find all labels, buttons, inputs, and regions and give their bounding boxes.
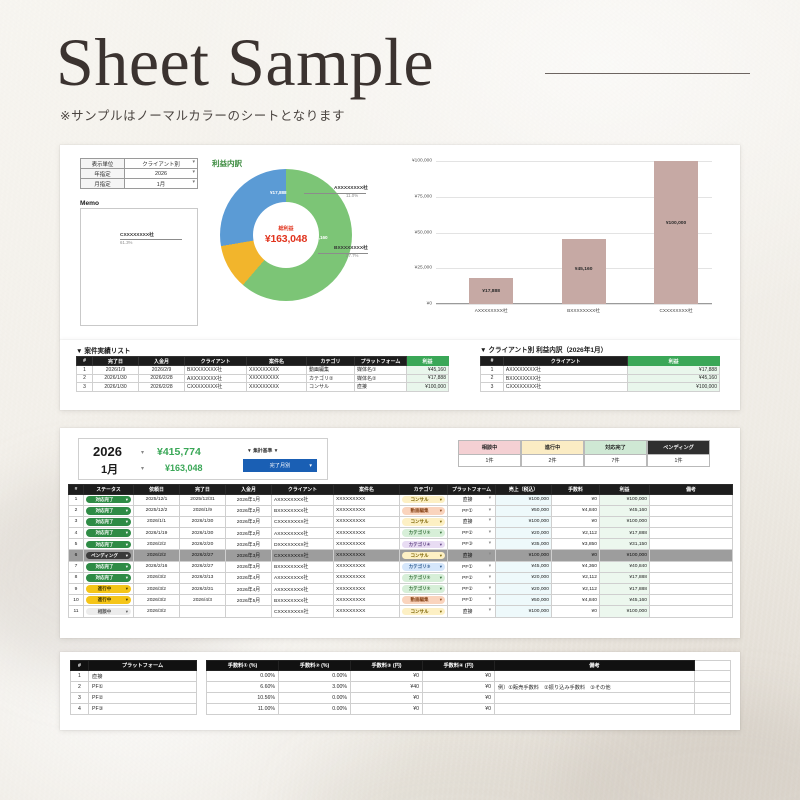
donut-label-c: CXXXXXXXX社 (120, 231, 154, 238)
aggregation-basis-label: ▼ 集計基準 ▼ (247, 447, 278, 454)
sales-amount: ¥45,000 (496, 561, 552, 572)
bar-category-0: AXXXXXXXX社 (455, 308, 527, 314)
client-col-1: クライアント (503, 357, 627, 366)
kpi-year-total: ¥415,774 (157, 446, 201, 458)
jisseki-cell-1: 2026/1/30 (93, 383, 139, 392)
request-date: 2026/1/1 (134, 516, 180, 527)
filter-controls: 表示単位クライアント別年指定2026月指定1月 (80, 158, 198, 189)
payment-month: 2026年2月 (226, 528, 272, 539)
jisseki-col-7: 利益 (407, 357, 449, 366)
status-badge[interactable]: 対応完了 (86, 574, 131, 582)
bar-value-0: ¥17,888 (469, 289, 513, 294)
fee-note: 例）①販売手数料 ②振り込み手数料 ③その他 (495, 682, 695, 693)
table-row[interactable]: 32026/1/302026/2/28CXXXXXXXX社XXXXXXXXXコン… (77, 383, 449, 392)
table-row[interactable]: 2BXXXXXXXX社¥45,160 (481, 374, 720, 383)
jisseki-cell-4: XXXXXXXXX (247, 383, 307, 392)
status-badge[interactable]: 進行中 (86, 585, 131, 593)
fee-platform: 直接 (89, 671, 197, 682)
jisseki-cell-6: 媒体名② (355, 374, 407, 383)
category-badge[interactable]: カテゴリ② (402, 529, 445, 537)
jisseki-cell-6: 直接 (355, 383, 407, 392)
fee-amount-4: ¥0 (423, 671, 495, 682)
bar-ytick-4: ¥100,000 (412, 159, 432, 164)
payment-month: 2026年2月 (226, 505, 272, 516)
row-index: 9 (69, 584, 84, 595)
client-name: CXXXXXXXX社 (272, 516, 334, 527)
table-row[interactable]: 3PF②10.56%0.00%¥0¥0 (71, 693, 731, 704)
jisseki-col-0: # (77, 357, 93, 366)
project-name: XXXXXXXXX (334, 572, 400, 583)
fee-rate-1: 0.00% (207, 671, 279, 682)
payment-month (226, 606, 272, 617)
profit-amount: ¥100,000 (600, 516, 650, 527)
filter-label-1: 年指定 (81, 169, 125, 179)
fee-amount: ¥0 (552, 550, 600, 561)
sales-amount: ¥100,000 (496, 606, 552, 617)
project-name: XXXXXXXXX (334, 494, 400, 505)
fee-row-index: 3 (71, 693, 89, 704)
payment-month: 2026年4月 (226, 572, 272, 583)
kpi-month[interactable]: 1月 (101, 461, 118, 477)
status-card-2[interactable]: 対応完了7件 (584, 440, 647, 467)
complete-date: 2026/2/27 (180, 561, 226, 572)
table-row[interactable]: 6ペンディング2026/2/22026/2/272026年3月CXXXXXXXX… (69, 550, 733, 561)
table-row[interactable]: 1AXXXXXXXX社¥17,888 (481, 366, 720, 375)
main-col-1: ステータス (84, 485, 134, 495)
request-date: 2026/1/19 (134, 528, 180, 539)
kpi-year[interactable]: 2026 (93, 444, 122, 459)
jisseki-col-1: 完了日 (93, 357, 139, 366)
filter-select-2[interactable]: 1月 (125, 179, 198, 189)
table-row[interactable]: 9進行中2026/3/22026/3/312026年4月AXXXXXXXX社XX… (69, 584, 733, 595)
client-name: AXXXXXXXX社 (272, 528, 334, 539)
jisseki-section-label: ▼ 案件実績リスト (76, 345, 131, 355)
row-index: 7 (69, 561, 84, 572)
client-name: AXXXXXXXX社 (272, 494, 334, 505)
complete-date: 2026/3/13 (180, 572, 226, 583)
payment-month: 2026年1月 (226, 494, 272, 505)
status-badge[interactable]: 対応完了 (86, 541, 131, 549)
client-name: AXXXXXXXX社 (272, 584, 334, 595)
table-row[interactable]: 12026/1/92026/2/9BXXXXXXXX社XXXXXXXXX動画編集… (77, 366, 449, 375)
profit-amount: ¥100,000 (600, 494, 650, 505)
fee-amount: ¥4,360 (552, 561, 600, 572)
aggregation-basis-select[interactable]: 完了月別 (243, 459, 317, 472)
project-name: XXXXXXXXX (334, 561, 400, 572)
table-row[interactable]: 11相談中2026/3/2CXXXXXXXX社XXXXXXXXXコンサル直接¥1… (69, 606, 733, 617)
payment-month: 2026年3月 (226, 550, 272, 561)
table-row[interactable]: 8対応完了2026/3/22026/3/132026年4月AXXXXXXXX社X… (69, 572, 733, 583)
bar-0[interactable]: ¥17,888AXXXXXXXX社 (469, 278, 513, 304)
status-badge[interactable]: 進行中 (86, 596, 131, 604)
row-index: 11 (69, 606, 84, 617)
note-cell (650, 539, 733, 550)
request-date: 2025/12/1 (134, 494, 180, 505)
profit-amount: ¥17,888 (600, 584, 650, 595)
jisseki-cell-3: CXXXXXXXX社 (185, 383, 247, 392)
status-badge[interactable]: 対応完了 (86, 518, 131, 526)
category-cell: カテゴリ③ (400, 561, 448, 572)
main-col-7: カテゴリ (400, 485, 448, 495)
jisseki-cell-7: ¥17,888 (407, 374, 449, 383)
row-index: 2 (69, 505, 84, 516)
client-name: BXXXXXXXX社 (272, 595, 334, 606)
aggregation-basis-value: 完了月別 (270, 462, 291, 469)
platform-select[interactable]: 直接 (450, 496, 493, 503)
bar-category-2: CXXXXXXXX社 (640, 308, 712, 314)
table-row[interactable]: 4対応完了2026/1/192026/1/302026年2月AXXXXXXXX社… (69, 528, 733, 539)
platform-cell: PF① (448, 505, 496, 516)
category-cell: コンサル (400, 550, 448, 561)
request-date: 2026/2/2 (134, 539, 180, 550)
jisseki-cell-0: 2 (77, 374, 93, 383)
main-col-2: 依頼日 (134, 485, 180, 495)
fee-rate-2: 0.00% (279, 704, 351, 715)
status-cell: 相談中 (84, 606, 134, 617)
filter-select-0[interactable]: クライアント別 (125, 159, 198, 169)
platform-select[interactable]: PF① (450, 564, 493, 570)
fee-spacer (695, 682, 731, 693)
main-col-4: 入金月 (226, 485, 272, 495)
status-badge[interactable]: 対応完了 (86, 563, 131, 571)
status-cell: 対応完了 (84, 516, 134, 527)
bar-ytick-0: ¥0 (427, 302, 432, 307)
filter-select-1[interactable]: 2026 (125, 169, 198, 179)
fee-amount: ¥4,840 (552, 595, 600, 606)
kpi-summary: 2026 ▾ 1月 ▾ ¥415,774 ¥163,048 ▼ 集計基準 ▼ 完… (78, 438, 328, 480)
jisseki-cell-4: XXXXXXXXX (247, 374, 307, 383)
table-row[interactable]: 7対応完了2026/2/162026/2/272026年3月BXXXXXXXX社… (69, 561, 733, 572)
category-cell: コンサル (400, 516, 448, 527)
status-badge[interactable]: ペンディング (86, 552, 131, 560)
client-cell-1: CXXXXXXXX社 (503, 383, 627, 392)
fee-amount: ¥0 (552, 606, 600, 617)
platform-select[interactable]: PF② (450, 586, 493, 592)
kpi-month-total: ¥163,048 (165, 463, 203, 473)
filter-value-0: クライアント別 (142, 160, 180, 168)
filter-row-2: 月指定1月 (81, 179, 198, 189)
fee-platform: PF② (89, 693, 197, 704)
client-name: CXXXXXXXX社 (272, 550, 334, 561)
sales-amount: ¥100,000 (496, 494, 552, 505)
fee-gap (197, 704, 207, 715)
platform-cell: PF① (448, 561, 496, 572)
year-dropdown-caret-icon[interactable]: ▾ (141, 449, 144, 456)
fee-col-4: 手数料③ (円) (351, 661, 423, 671)
fee-amount: ¥0 (552, 494, 600, 505)
title-divider (545, 73, 750, 74)
fee-col-2: 手数料① (%) (207, 661, 279, 671)
status-badge[interactable]: 対応完了 (86, 529, 131, 537)
profit-amount: ¥31,150 (600, 539, 650, 550)
filter-value-1: 2026 (155, 171, 167, 177)
jisseki-cell-5: カテゴリ② (307, 374, 355, 383)
client-name: BXXXXXXXX社 (272, 505, 334, 516)
fee-col-3: 手数料② (%) (279, 661, 351, 671)
platform-select[interactable]: 直接 (450, 518, 493, 525)
donut-leader-b (318, 253, 368, 254)
fee-spacer (695, 704, 731, 715)
status-card-count-1: 2件 (522, 454, 583, 466)
donut-pct-a: 11.0% (346, 193, 358, 198)
fee-rate-1: 10.56% (207, 693, 279, 704)
bar-1[interactable]: ¥45,160BXXXXXXXX社 (562, 239, 606, 304)
fee-amount: ¥3,850 (552, 539, 600, 550)
donut-slice-value-c: ¥100,000 (198, 230, 217, 235)
jisseki-col-5: カテゴリ (307, 357, 355, 366)
donut-pct-c: 61.3% (120, 240, 132, 245)
fee-amount-3: ¥0 (351, 704, 423, 715)
client-col-0: # (481, 357, 504, 366)
client-cell-0: 3 (481, 383, 504, 392)
main-col-12: 備考 (650, 485, 733, 495)
platform-cell: 直接 (448, 516, 496, 527)
row-index: 3 (69, 516, 84, 527)
fee-amount-3: ¥0 (351, 671, 423, 682)
projects-table: #ステータス依頼日完了日入金月クライアント案件名カテゴリプラットフォーム売上（税… (68, 484, 733, 618)
bar-value-1: ¥45,160 (562, 267, 606, 272)
project-name: XXXXXXXXX (334, 584, 400, 595)
jisseki-cell-6: 媒体名① (355, 366, 407, 375)
platform-select[interactable]: 直接 (450, 552, 493, 559)
table-row[interactable]: 1対応完了2025/12/12025/12/312026年1月AXXXXXXXX… (69, 494, 733, 505)
table-row[interactable]: 22026/1/302026/2/28AXXXXXXXX社XXXXXXXXXカテ… (77, 374, 449, 383)
sales-amount: ¥100,000 (496, 550, 552, 561)
client-cell-2: ¥17,888 (628, 366, 720, 375)
fee-amount-3: ¥40 (351, 682, 423, 693)
table-row[interactable]: 1直接0.00%0.00%¥0¥0 (71, 671, 731, 682)
fee-amount-4: ¥0 (423, 704, 495, 715)
table-row[interactable]: 5対応完了2026/2/22026/2/202026年3月DXXXXXXXX社X… (69, 539, 733, 550)
memo-input[interactable] (80, 208, 198, 326)
row-index: 5 (69, 539, 84, 550)
category-cell: 動画編集 (400, 595, 448, 606)
table-row[interactable]: 3CXXXXXXXX社¥100,000 (481, 383, 720, 392)
status-card-label-3: ペンディング (648, 441, 709, 454)
main-col-9: 売上（税込） (496, 485, 552, 495)
bar-ytick-1: ¥25,000 (415, 266, 432, 271)
category-badge[interactable]: コンサル (402, 518, 445, 526)
status-card-count-3: 1件 (648, 454, 709, 466)
table-row[interactable]: 2対応完了2025/12/22026/1/92026年2月BXXXXXXXX社X… (69, 505, 733, 516)
request-date: 2026/3/2 (134, 606, 180, 617)
platform-fees-table: #プラットフォーム手数料① (%)手数料② (%)手数料③ (円)手数料④ (円… (70, 660, 731, 715)
fee-row-index: 1 (71, 671, 89, 682)
project-name: XXXXXXXXX (334, 516, 400, 527)
project-name: XXXXXXXXX (334, 550, 400, 561)
category-cell: 動画編集 (400, 505, 448, 516)
complete-date: 2026/3/31 (180, 584, 226, 595)
fee-col-5: 手数料④ (円) (423, 661, 495, 671)
status-card-3[interactable]: ペンディング1件 (647, 440, 710, 467)
row-index: 6 (69, 550, 84, 561)
fee-col-gap (197, 661, 207, 671)
main-col-10: 手数料 (552, 485, 600, 495)
status-badge[interactable]: 対応完了 (86, 507, 131, 515)
platform-cell: 直接 (448, 606, 496, 617)
jisseki-cell-1: 2026/1/30 (93, 374, 139, 383)
platform-cell: PF③ (448, 539, 496, 550)
fee-platform: PF① (89, 682, 197, 693)
fee-rate-2: 0.00% (279, 693, 351, 704)
status-card-1[interactable]: 進行中2件 (521, 440, 584, 467)
status-card-0[interactable]: 相談中1件 (458, 440, 521, 467)
client-name: BXXXXXXXX社 (272, 561, 334, 572)
category-badge[interactable]: コンサル (402, 496, 445, 504)
fee-gap (197, 693, 207, 704)
fee-amount: ¥2,112 (552, 584, 600, 595)
bar-category-1: BXXXXXXXX社 (548, 308, 620, 314)
profit-amount: ¥17,888 (600, 528, 650, 539)
status-cell: 対応完了 (84, 572, 134, 583)
platform-cell: PF② (448, 584, 496, 595)
fee-amount: ¥0 (552, 516, 600, 527)
category-badge[interactable]: コンサル (402, 608, 445, 616)
category-badge[interactable]: カテゴリ② (402, 574, 445, 582)
client-cell-2: ¥100,000 (628, 383, 720, 392)
payment-month: 2026年4月 (226, 584, 272, 595)
donut-label-a: AXXXXXXXX社 (334, 184, 368, 191)
category-cell: カテゴリ② (400, 584, 448, 595)
row-index: 8 (69, 572, 84, 583)
platform-select[interactable]: PF② (450, 575, 493, 581)
client-name: DXXXXXXXX社 (272, 539, 334, 550)
platform-select[interactable]: PF① (450, 597, 493, 603)
note-cell (650, 606, 733, 617)
status-cell: 進行中 (84, 584, 134, 595)
note-cell (650, 595, 733, 606)
category-cell: コンサル (400, 494, 448, 505)
table-row[interactable]: 2PF①6.60%3.00%¥40¥0例）①販売手数料 ②振り込み手数料 ③その… (71, 682, 731, 693)
fee-note (495, 693, 695, 704)
status-card-count-2: 7件 (585, 454, 646, 466)
jisseki-col-2: 入金月 (139, 357, 185, 366)
donut-center: 総利益 ¥163,048 (253, 202, 319, 268)
profit-amount: ¥40,840 (600, 561, 650, 572)
category-badge[interactable]: 動画編集 (402, 507, 445, 515)
jisseki-cell-4: XXXXXXXXX (247, 366, 307, 375)
lists-panel: ▼ 案件実績リスト #完了日入金月クライアント案件名カテゴリプラットフォーム利益… (60, 340, 740, 410)
donut-slice-value-a: ¥17,888 (270, 190, 287, 195)
status-card-label-0: 相談中 (459, 441, 520, 454)
status-badge[interactable]: 対応完了 (86, 496, 131, 504)
client-col-2: 利益 (628, 357, 720, 366)
jisseki-cell-2: 2026/2/28 (139, 383, 185, 392)
bar-2[interactable]: ¥100,000CXXXXXXXX社 (654, 161, 698, 304)
page-subtitle: ※サンプルはノーマルカラーのシートとなります (60, 105, 345, 124)
request-date: 2026/3/2 (134, 584, 180, 595)
category-badge[interactable]: カテゴリ② (402, 585, 445, 593)
note-cell (650, 494, 733, 505)
status-cell: 対応完了 (84, 494, 134, 505)
complete-date: 2026/1/30 (180, 528, 226, 539)
fee-rate-1: 6.60% (207, 682, 279, 693)
bar-gridline-0 (436, 304, 712, 305)
table-row[interactable]: 10進行中2026/3/22026/4/32026年5月BXXXXXXXX社XX… (69, 595, 733, 606)
profit-amount: ¥17,888 (600, 572, 650, 583)
sales-amount: ¥35,000 (496, 539, 552, 550)
fee-col-1: プラットフォーム (89, 661, 197, 671)
status-cell: 進行中 (84, 595, 134, 606)
status-badge[interactable]: 相談中 (86, 608, 131, 616)
donut-center-value: ¥163,048 (265, 233, 307, 245)
main-col-11: 利益 (600, 485, 650, 495)
request-date: 2026/3/2 (134, 595, 180, 606)
platform-select[interactable]: PF③ (450, 541, 493, 547)
table-row[interactable]: 4PF③11.00%0.00%¥0¥0 (71, 704, 731, 715)
main-col-0: # (69, 485, 84, 495)
note-cell (650, 528, 733, 539)
status-card-label-2: 対応完了 (585, 441, 646, 454)
platform-cell: PF② (448, 528, 496, 539)
fee-rate-2: 3.00% (279, 682, 351, 693)
platform-select[interactable]: 直接 (450, 608, 493, 615)
category-badge[interactable]: カテゴリ④ (402, 541, 445, 549)
platform-select[interactable]: PF① (450, 508, 493, 514)
jisseki-cell-7: ¥45,160 (407, 366, 449, 375)
filter-label-2: 月指定 (81, 179, 125, 189)
jisseki-cell-1: 2026/1/9 (93, 366, 139, 375)
status-cell: 対応完了 (84, 528, 134, 539)
fee-note (495, 704, 695, 715)
main-sheet-panel: 2026 ▾ 1月 ▾ ¥415,774 ¥163,048 ▼ 集計基準 ▼ 完… (60, 428, 740, 638)
filter-value-2: 1月 (157, 180, 165, 188)
fee-amount-4: ¥0 (423, 682, 495, 693)
project-name: XXXXXXXXX (334, 606, 400, 617)
category-badge[interactable]: 動画編集 (402, 596, 445, 604)
bar-ytick-2: ¥50,000 (415, 230, 432, 235)
fee-amount-3: ¥0 (351, 693, 423, 704)
month-dropdown-caret-icon[interactable]: ▾ (141, 465, 144, 472)
client-name: AXXXXXXXX社 (272, 572, 334, 583)
fee-amount: ¥2,112 (552, 572, 600, 583)
complete-date: 2025/12/31 (180, 494, 226, 505)
platform-select[interactable]: PF② (450, 530, 493, 536)
sales-amount: ¥20,000 (496, 584, 552, 595)
fee-amount: ¥4,840 (552, 505, 600, 516)
platform-cell: PF② (448, 572, 496, 583)
fees-panel: #プラットフォーム手数料① (%)手数料② (%)手数料③ (円)手数料④ (円… (60, 652, 740, 730)
jisseki-cell-0: 1 (77, 366, 93, 375)
category-badge[interactable]: カテゴリ③ (402, 563, 445, 571)
platform-cell: PF① (448, 595, 496, 606)
page-root: Sheet Sample ※サンプルはノーマルカラーのシートとなります 表示単位… (0, 0, 800, 800)
page-title: Sheet Sample (56, 25, 434, 100)
jisseki-cell-0: 3 (77, 383, 93, 392)
project-name: XXXXXXXXX (334, 528, 400, 539)
fee-rate-2: 0.00% (279, 671, 351, 682)
table-row[interactable]: 3対応完了2026/1/12026/1/302026年2月CXXXXXXXX社X… (69, 516, 733, 527)
category-badge[interactable]: コンサル (402, 552, 445, 560)
fee-col-0: # (71, 661, 89, 671)
complete-date: 2026/4/3 (180, 595, 226, 606)
donut-pct-b: 27.7% (346, 253, 358, 258)
profit-amount: ¥45,160 (600, 505, 650, 516)
request-date: 2026/2/2 (134, 550, 180, 561)
complete-date (180, 606, 226, 617)
fee-col-spacer (695, 661, 731, 671)
payment-month: 2026年2月 (226, 516, 272, 527)
category-cell: カテゴリ② (400, 572, 448, 583)
category-cell: カテゴリ④ (400, 539, 448, 550)
row-index: 1 (69, 494, 84, 505)
donut-center-label: 総利益 (278, 225, 293, 232)
jisseki-cell-2: 2026/2/9 (139, 366, 185, 375)
sales-amount: ¥100,000 (496, 516, 552, 527)
request-date: 2026/3/2 (134, 572, 180, 583)
sales-amount: ¥20,000 (496, 528, 552, 539)
note-cell (650, 561, 733, 572)
